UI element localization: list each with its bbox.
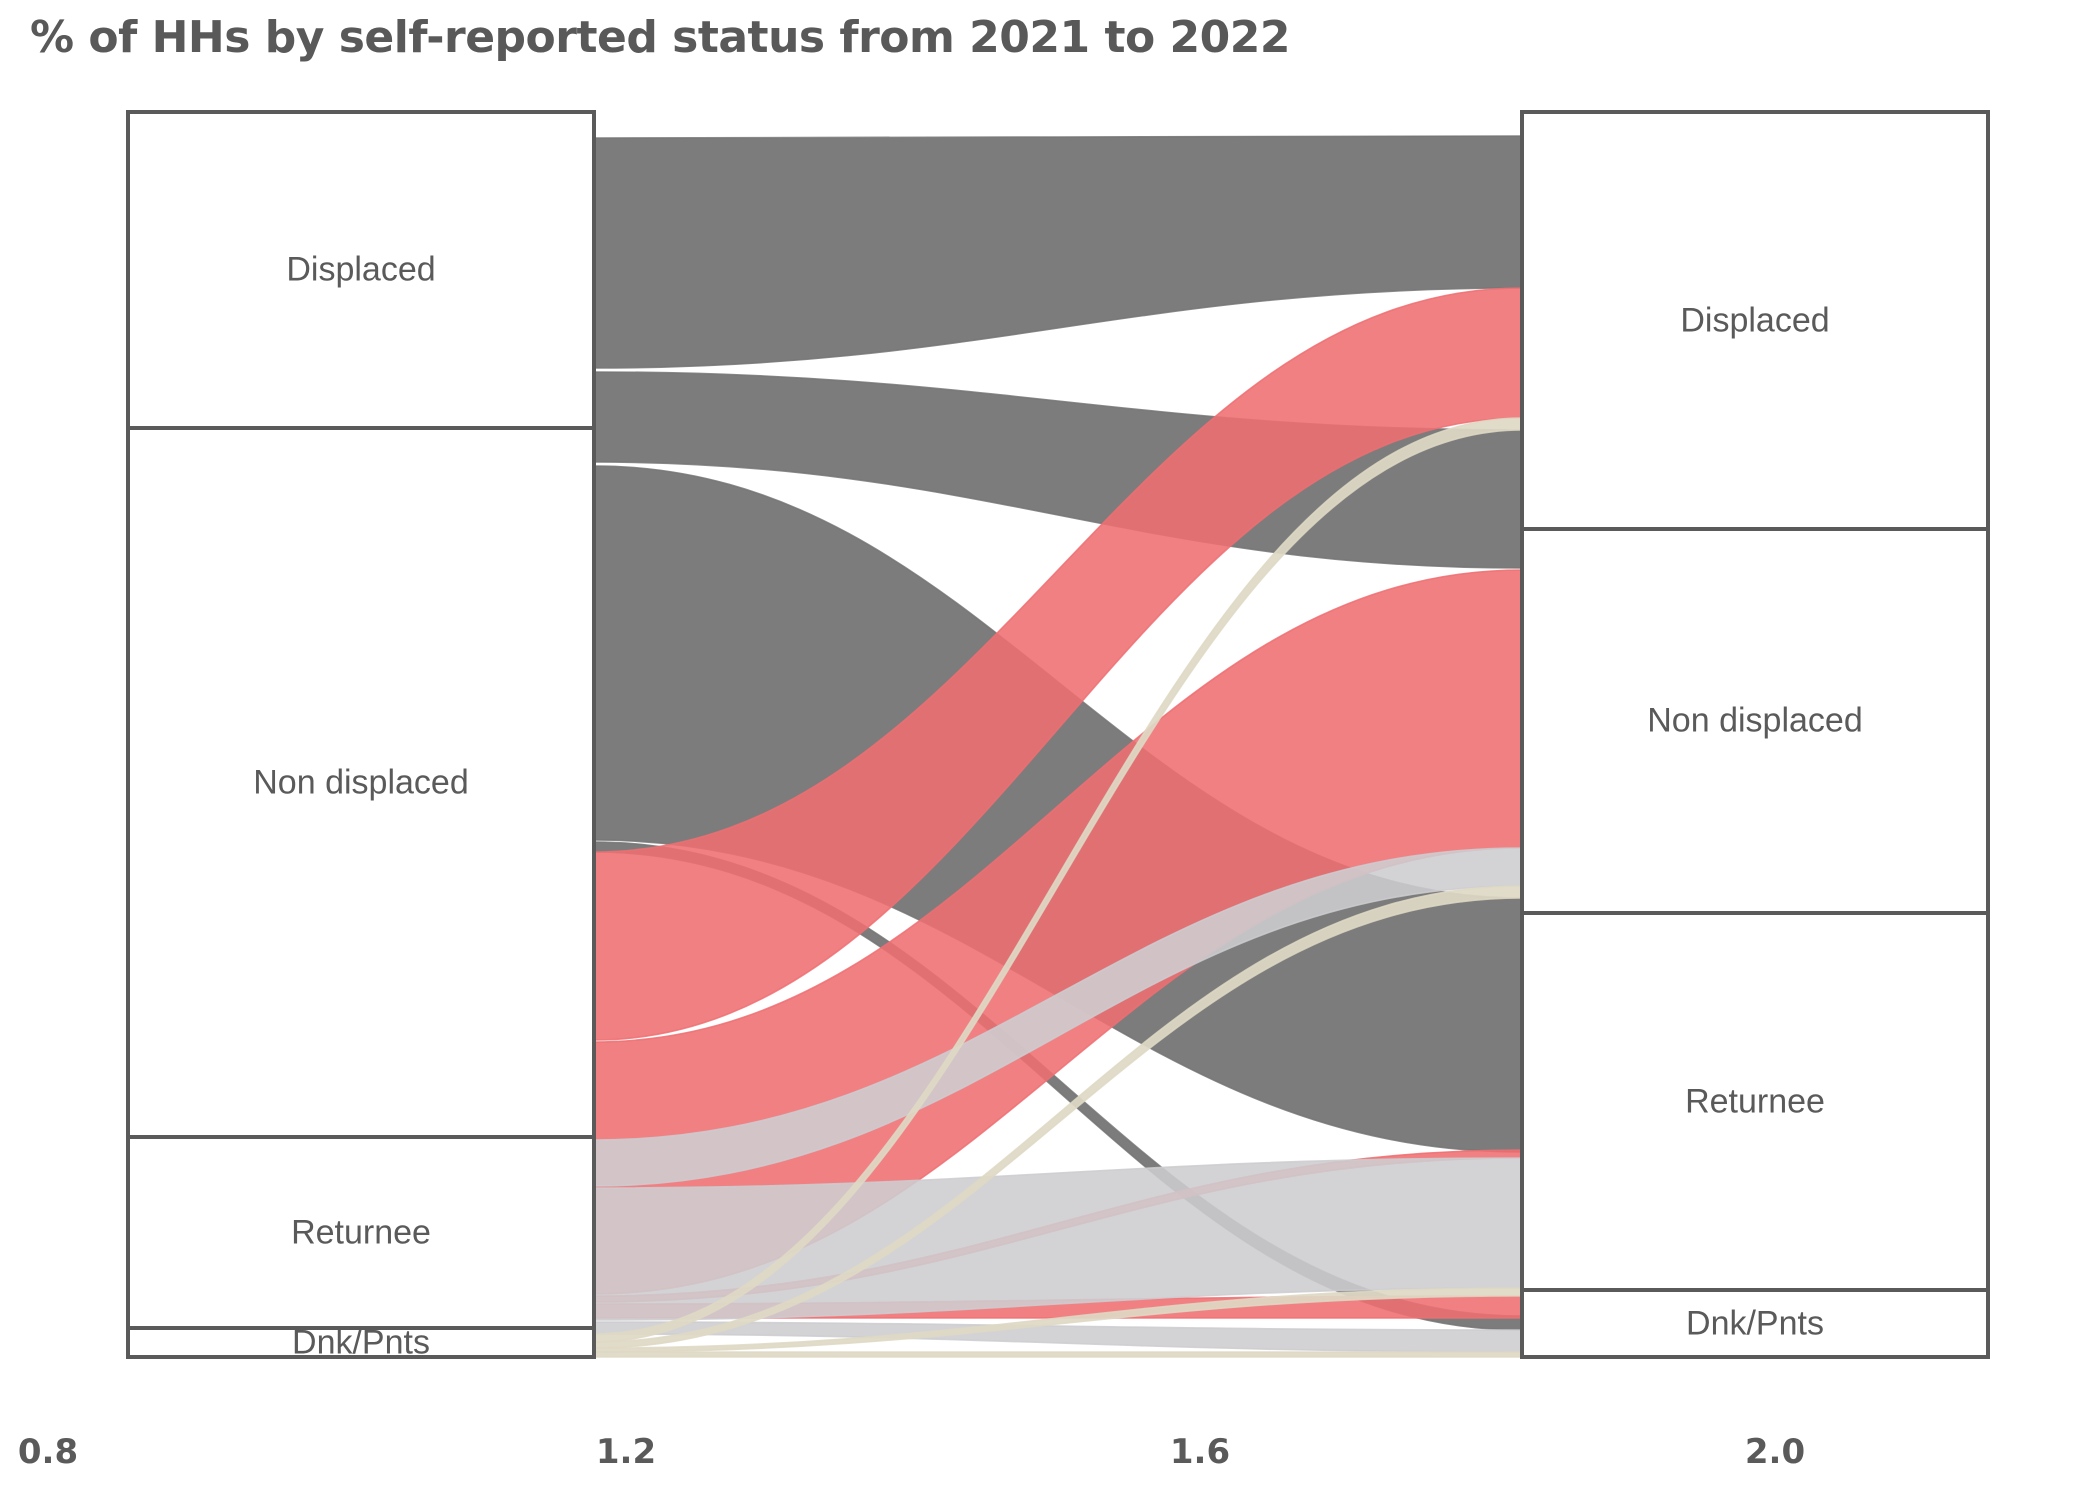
- ribbon-layer: [594, 136, 1522, 1357]
- sankey-ribbon-dnkpnts-to-dnkpnts[interactable]: [594, 1352, 1522, 1357]
- sankey-node-2022-dnk_pnts[interactable]: [1522, 1290, 1988, 1357]
- sankey-node-2021-displaced[interactable]: [128, 112, 594, 428]
- x-axis-tick-1.6: 1.6: [1170, 1432, 1230, 1472]
- sankey-node-2021-returnee[interactable]: [128, 1137, 594, 1328]
- sankey-node-2022-returnee[interactable]: [1522, 913, 1988, 1290]
- x-axis-tick-0.8: 0.8: [18, 1432, 78, 1472]
- sankey-chart: % of HHs by self-reported status from 20…: [0, 0, 2100, 1500]
- x-axis-tick-1.2: 1.2: [596, 1432, 656, 1472]
- x-axis-tick-2.0: 2.0: [1745, 1432, 1805, 1472]
- sankey-node-2022-displaced[interactable]: [1522, 112, 1988, 529]
- sankey-node-2021-non_displaced[interactable]: [128, 428, 594, 1137]
- sankey-plot-area: [0, 0, 2100, 1500]
- sankey-node-2021-dnk_pnts[interactable]: [128, 1328, 594, 1357]
- sankey-node-2022-non_displaced[interactable]: [1522, 529, 1988, 913]
